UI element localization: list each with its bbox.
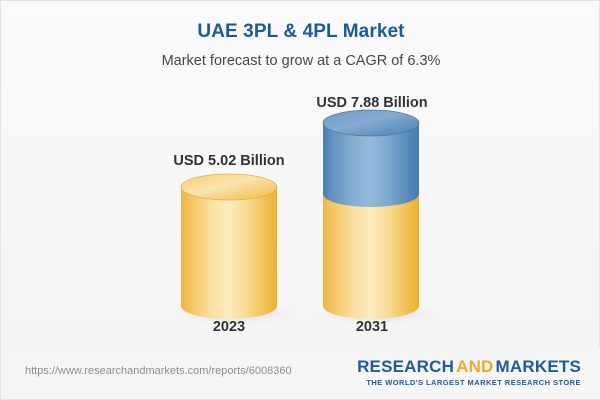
chart-plot-area: USD 5.02 Billion	[1, 1, 600, 349]
cylinder-top-2031	[323, 110, 419, 136]
logo-word-and: AND	[456, 357, 493, 376]
research-and-markets-logo[interactable]: RESEARCHANDMARKETS THE WORLD'S LARGEST M…	[357, 357, 581, 388]
footer: https://www.researchandmarkets.com/repor…	[1, 347, 600, 399]
year-label-2023: 2023	[213, 319, 245, 335]
logo-word-research: RESEARCH	[357, 357, 454, 376]
cylinder-2023	[167, 105, 293, 335]
logo-tagline: THE WORLD'S LARGEST MARKET RESEARCH STOR…	[357, 377, 581, 388]
infographic-card: UAE 3PL & 4PL Market Market forecast to …	[0, 0, 600, 400]
chart-column-2031: USD 7.88 Billion	[323, 1, 421, 349]
report-url[interactable]: https://www.researchandmarkets.com/repor…	[25, 365, 292, 377]
logo-word-markets: MARKETS	[496, 357, 581, 376]
cylinder-top-2023	[181, 174, 277, 200]
cylinder-base-segment-2031	[323, 194, 419, 319]
cylinder-2031	[309, 105, 435, 335]
logo-wordmark: RESEARCHANDMARKETS	[357, 357, 581, 376]
chart-column-2023: USD 5.02 Billion	[181, 1, 277, 349]
cylinder-body-2023	[181, 187, 277, 319]
year-label-2031: 2031	[356, 319, 388, 335]
